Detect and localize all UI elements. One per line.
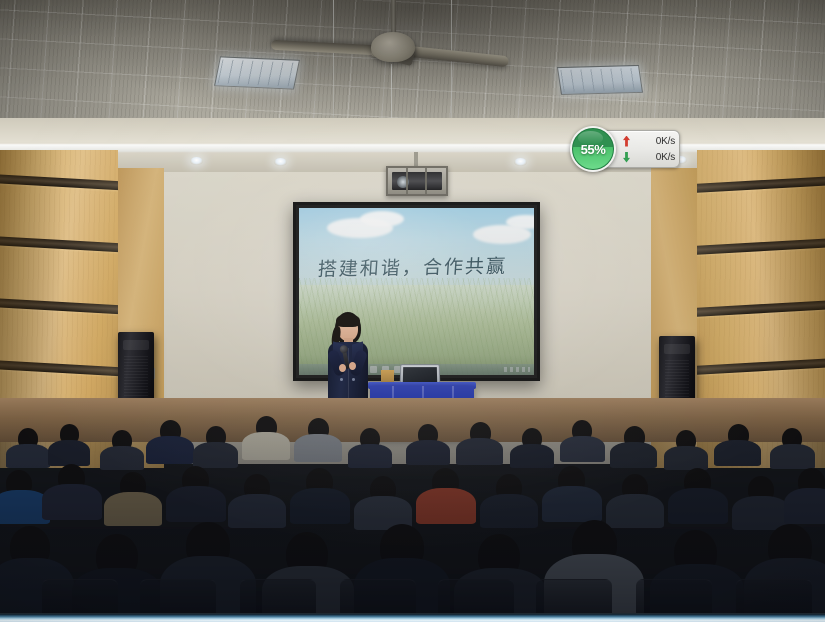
- audience-shoulders: [510, 444, 554, 468]
- audience-shoulders: [770, 444, 815, 469]
- audience-shoulders: [228, 494, 286, 528]
- audience-shoulders: [6, 444, 50, 468]
- arrow-down-icon: [623, 152, 630, 163]
- audience-shoulders: [166, 486, 226, 522]
- audience-shoulders: [456, 438, 503, 465]
- auditorium-photo: 搭建和谐，合作共赢: [0, 0, 825, 622]
- audience-shoulders: [290, 488, 350, 524]
- bottom-window-edge: [0, 613, 825, 622]
- download-speed-value: 0K/s: [635, 152, 675, 163]
- audience-shoulders: [560, 436, 605, 462]
- audience-shoulders: [42, 484, 102, 520]
- audience-shoulders: [406, 440, 450, 465]
- audience-shoulders: [104, 492, 162, 526]
- downlight: [274, 158, 287, 166]
- audience-shoulders: [193, 442, 238, 468]
- cage-bar: [406, 168, 408, 194]
- loudspeaker-left: [118, 332, 154, 404]
- audience-shoulders: [714, 440, 761, 466]
- presenter-hand-right: [349, 362, 356, 370]
- audience-shoulders: [48, 440, 90, 466]
- projector-cage: [386, 166, 448, 196]
- coat-button: [352, 378, 355, 381]
- seated-audience: [0, 398, 825, 622]
- cpu-usage-badge[interactable]: 55%: [570, 126, 616, 172]
- audience-shoulders: [610, 442, 657, 468]
- audience-shoulders: [242, 432, 290, 460]
- cage-bar: [425, 168, 427, 194]
- network-speed-widget[interactable]: 0K/s 0K/s 55%: [570, 126, 680, 172]
- downlight: [514, 158, 527, 166]
- downlight: [190, 157, 203, 165]
- audience-shoulders: [668, 488, 728, 524]
- audience-shoulders: [100, 446, 144, 470]
- presenter-hair-front: [336, 314, 360, 327]
- audience-shoulders: [542, 486, 602, 522]
- audience-shoulders: [480, 494, 538, 528]
- presenter-hand-left: [339, 364, 346, 372]
- audience-shoulders: [784, 488, 825, 524]
- audience-shoulders: [348, 444, 392, 468]
- cpu-usage-value: 55%: [581, 142, 606, 157]
- audience-shoulders: [294, 434, 342, 462]
- projector-body: [392, 172, 442, 190]
- audience-shoulders: [606, 494, 664, 528]
- arrow-up-icon: [623, 136, 630, 147]
- upload-speed-value: 0K/s: [635, 136, 675, 147]
- cpu-usage-gauge: 55%: [572, 128, 614, 170]
- upload-row: 0K/s: [623, 133, 679, 149]
- download-row: 0K/s: [623, 149, 679, 165]
- coat-button: [340, 378, 343, 381]
- audience-shoulders: [146, 436, 194, 464]
- audience-shoulders: [664, 446, 708, 470]
- audience-shoulders: [416, 488, 476, 524]
